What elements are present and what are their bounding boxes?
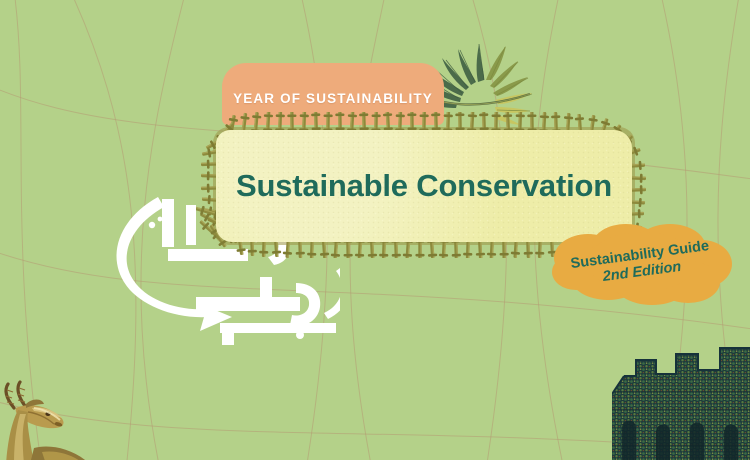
gazelle-icon <box>0 378 114 460</box>
cloud-shape <box>548 216 734 312</box>
fort-battlement-icon <box>612 332 750 460</box>
poster-canvas: YEAR OF SUSTAINABILITY <box>0 0 750 460</box>
sustainability-guide-badge: Sustainability Guide 2nd Edition <box>548 216 734 312</box>
page-title: Sustainable Conservation <box>236 168 612 204</box>
year-of-sustainability-label: YEAR OF SUSTAINABILITY <box>233 91 433 106</box>
